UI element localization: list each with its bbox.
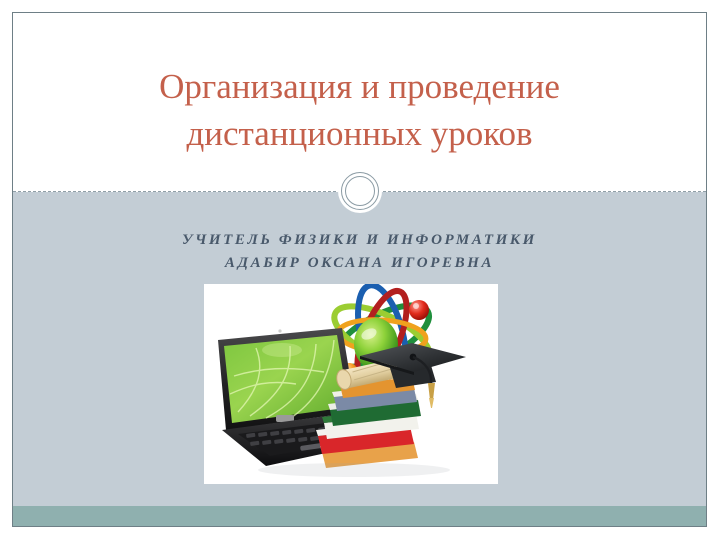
slide-picture — [204, 284, 498, 484]
double-circle-ornament-icon — [338, 169, 382, 213]
laptop-atom-books-illustration-icon — [204, 284, 498, 484]
slide-subtitle: УЧИТЕЛЬ ФИЗИКИ И ИНФОРМАТИКИ АДАБИР ОКСА… — [13, 229, 706, 275]
ring-inner-circle — [345, 176, 375, 206]
page-title: Организация и проведение дистанционных у… — [13, 63, 706, 157]
bottom-accent-bar — [13, 506, 706, 527]
presentation-slide: Организация и проведение дистанционных у… — [12, 12, 707, 527]
